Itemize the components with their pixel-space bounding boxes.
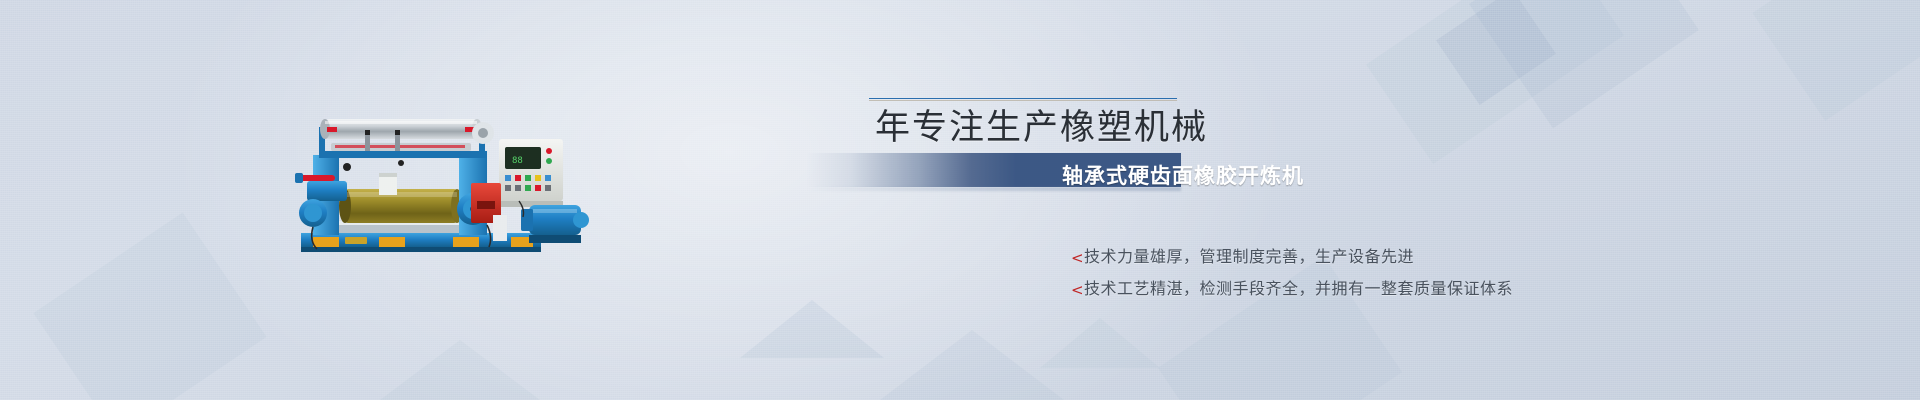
- hero-banner: 88: [0, 0, 1920, 400]
- chevron-left-icon: <: [1071, 247, 1084, 269]
- feature-bullet-1-label: 技术力量雄厚，管理制度完善，生产设备先进: [1084, 247, 1414, 269]
- feature-bullet-1: <技术力量雄厚，管理制度完善，生产设备先进: [1071, 247, 1414, 269]
- product-subtitle: 轴承式硬齿面橡胶开炼机: [1062, 160, 1304, 190]
- page-title: 年专注生产橡塑机械: [875, 105, 1208, 151]
- chevron-left-icon: <: [1071, 279, 1084, 301]
- headline-rule: [869, 98, 1177, 99]
- feature-bullet-2: <技术工艺精湛，检测手段齐全，并拥有一整套质量保证体系: [1071, 279, 1513, 301]
- feature-bullet-2-label: 技术工艺精湛，检测手段齐全，并拥有一整套质量保证体系: [1084, 279, 1513, 301]
- banner-content: 年专注生产橡塑机械 轴承式硬齿面橡胶开炼机 <技术力量雄厚，管理制度完善，生产设…: [0, 0, 1920, 400]
- headline-rule-shadow: [869, 100, 1177, 101]
